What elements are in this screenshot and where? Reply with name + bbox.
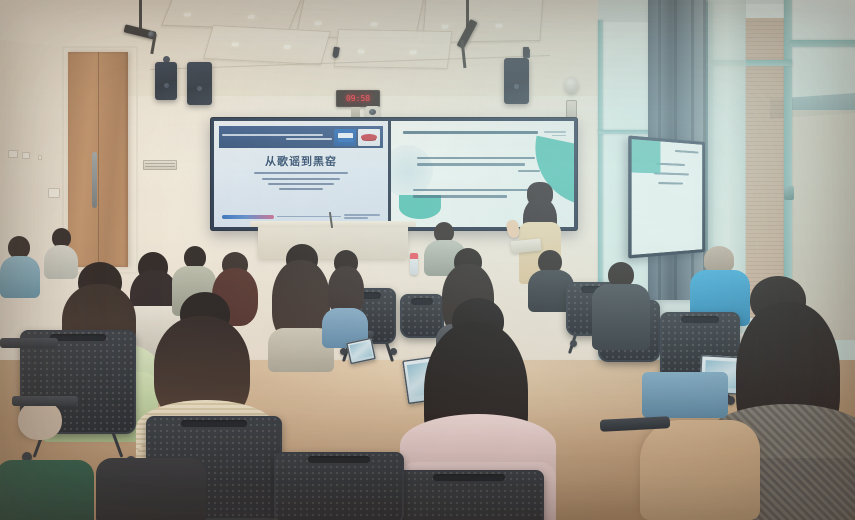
projector-lens-icon: [148, 31, 155, 38]
side-monitor-header: [675, 147, 699, 157]
dome-speaker-icon: [565, 77, 578, 93]
wall-switch-plate[interactable]: [8, 150, 18, 158]
wall-speaker: [155, 62, 177, 100]
chair-tablet-arm[interactable]: [0, 338, 58, 348]
slide-header-band: [219, 126, 383, 148]
side-monitor[interactable]: [628, 135, 705, 258]
door-panel-split: [98, 52, 99, 267]
left-slide[interactable]: 从歌谣到黑窑: [214, 121, 388, 227]
emblem-logo-red-icon: [358, 129, 380, 146]
tan-beret: [704, 246, 734, 272]
slide-body-lines: [254, 169, 348, 193]
right-slide-quote-1: [417, 153, 540, 172]
student-jeans: [642, 372, 728, 418]
chair[interactable]: [274, 452, 404, 520]
side-monitor-accent: [632, 139, 661, 173]
recessed-ceiling-panel: [203, 25, 331, 65]
chair-caster: [390, 348, 397, 355]
chair-tablet-arm[interactable]: [12, 396, 78, 406]
right-slide-title: [403, 131, 544, 134]
institution-logo-blue-icon: [334, 129, 356, 146]
slide-footer-note: [344, 212, 380, 221]
student-bag: [640, 420, 760, 520]
student: [0, 400, 90, 520]
slide-footer: [222, 212, 380, 221]
student: [322, 250, 368, 342]
projector-mount-rod: [139, 0, 142, 30]
ptz-camera-icon: [365, 106, 380, 117]
right-slide-corner-mark: [544, 129, 566, 138]
led-clock: 09:58: [336, 90, 380, 107]
side-monitor-line: [656, 163, 685, 166]
wall-sensor: [38, 155, 42, 160]
wall-camera-icon: [523, 47, 529, 57]
wall-speaker: [504, 58, 529, 104]
chair[interactable]: [394, 470, 544, 520]
slide-title: 从歌谣到黑窑: [214, 153, 388, 169]
recessed-ceiling-panel: [334, 29, 453, 69]
slide-header-text: [222, 133, 332, 142]
led-clock-text: 09:58: [346, 95, 370, 103]
water-bottle: [410, 253, 418, 275]
slide-footer-accent-bar: [222, 215, 274, 219]
window-transom: [790, 40, 855, 47]
chair-caster: [340, 348, 347, 355]
student: [0, 236, 40, 296]
wall-outlet[interactable]: [48, 188, 60, 198]
wall-air-vent: [143, 160, 177, 170]
side-monitor-line: [658, 182, 683, 185]
student: [96, 458, 206, 520]
window-latch-handle[interactable]: [784, 186, 794, 200]
window-transom: [598, 130, 654, 134]
chair-caster: [570, 340, 577, 347]
door-handle[interactable]: [92, 152, 97, 208]
student: [592, 262, 650, 348]
wall-speaker: [187, 62, 212, 105]
classroom-photo: 09:58 从歌谣到黑窑: [0, 0, 855, 520]
wall-switch-plate[interactable]: [22, 152, 30, 159]
